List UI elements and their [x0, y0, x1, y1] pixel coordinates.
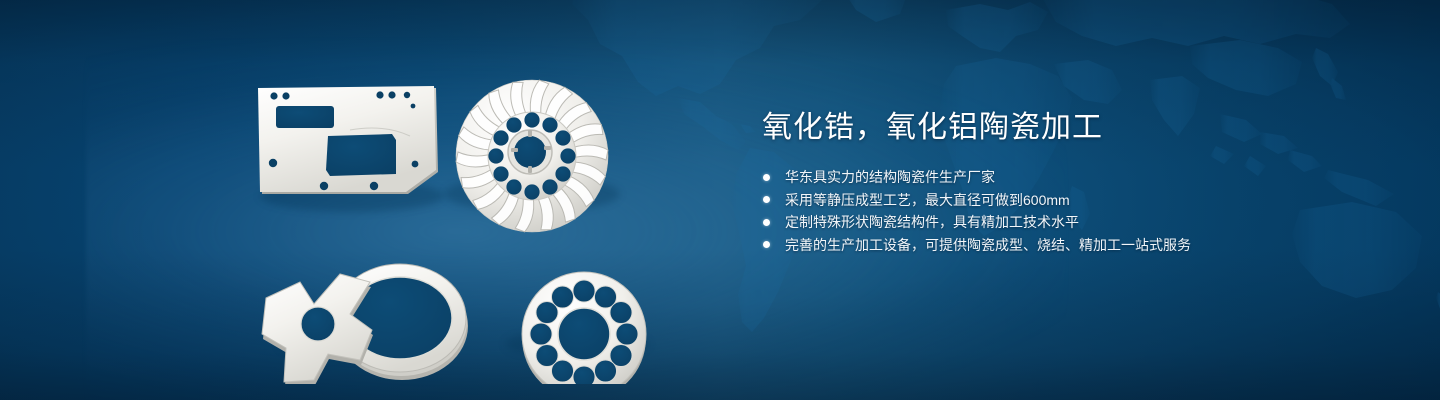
banner-headline: 氧化锆，氧化铝陶瓷加工 — [762, 106, 1322, 150]
feature-text: 华东具实力的结构陶瓷件生产厂家 — [785, 169, 995, 185]
feature-text: 完善的生产加工设备，可提供陶瓷成型、烧结、精加工一站式服务 — [785, 237, 1191, 253]
feature-list: 华东具实力的结构陶瓷件生产厂家 采用等静压成型工艺，最大直径可做到600mm 定… — [762, 166, 1322, 256]
product-photo-group — [232, 44, 702, 384]
hero-banner: 氧化锆，氧化铝陶瓷加工 华东具实力的结构陶瓷件生产厂家 采用等静压成型工艺，最大… — [0, 0, 1440, 400]
bullet-dot-icon — [763, 174, 770, 181]
feature-text: 采用等静压成型工艺，最大直径可做到600mm — [785, 192, 1070, 208]
ceramic-cross-plate — [262, 274, 373, 384]
ceramic-machined-plate — [258, 86, 438, 194]
feature-text: 定制特殊形状陶瓷结构件，具有精加工技术水平 — [785, 214, 1079, 230]
feature-list-item: 定制特殊形状陶瓷结构件，具有精加工技术水平 — [762, 211, 1322, 234]
feature-list-item: 完善的生产加工设备，可提供陶瓷成型、烧结、精加工一站式服务 — [762, 234, 1322, 257]
ceramic-perforated-disc — [522, 272, 646, 384]
feature-list-item: 华东具实力的结构陶瓷件生产厂家 — [762, 166, 1322, 189]
feature-list-item: 采用等静压成型工艺，最大直径可做到600mm — [762, 189, 1322, 212]
bullet-dot-icon — [763, 241, 770, 248]
ceramic-vaned-impeller — [456, 79, 608, 233]
banner-copy: 氧化锆，氧化铝陶瓷加工 华东具实力的结构陶瓷件生产厂家 采用等静压成型工艺，最大… — [762, 106, 1322, 256]
bullet-dot-icon — [763, 196, 770, 203]
bullet-dot-icon — [763, 219, 770, 226]
